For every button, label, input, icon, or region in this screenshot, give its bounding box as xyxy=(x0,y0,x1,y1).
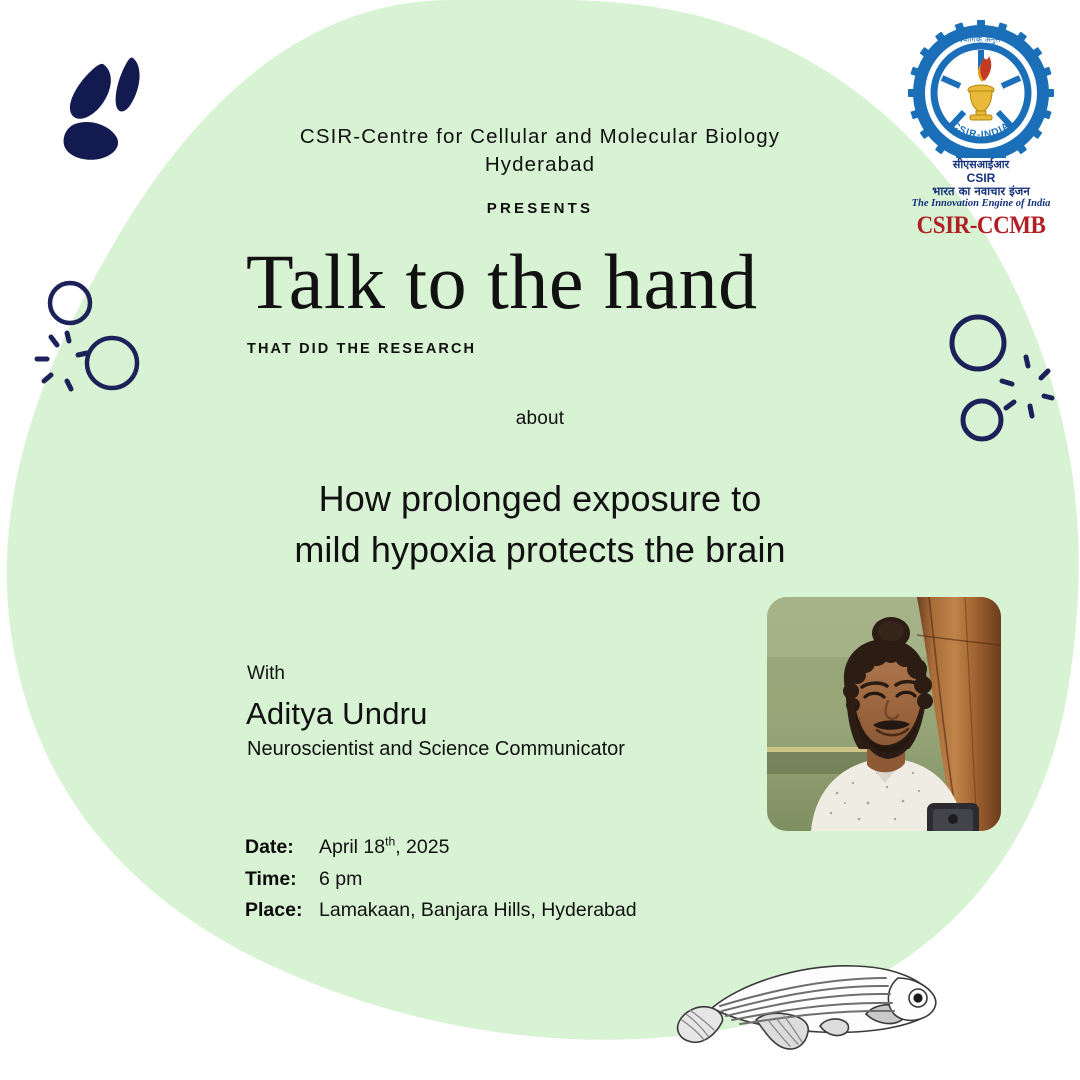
detail-key-place: Place: xyxy=(245,895,319,927)
detail-value-place: Lamakaan, Banjara Hills, Hyderabad xyxy=(319,895,637,927)
talk-topic-line-2: mild hypoxia protects the brain xyxy=(294,529,785,570)
speaker-name: Aditya Undru xyxy=(246,696,428,732)
logo-tagline-hindi-2: भारत का नवाचार इंजन xyxy=(900,185,1062,198)
logo-wordmark: CSIR-CCMB xyxy=(906,213,1055,238)
organisation-line-2: Hyderabad xyxy=(485,153,595,176)
poster-canvas: आदयोगिक अनुसंधान CSIR-INDIA सीएसआईआर CSI… xyxy=(0,0,1080,1080)
page-subtitle: THAT DID THE RESEARCH xyxy=(247,341,476,357)
detail-row-place: Place:Lamakaan, Banjara Hills, Hyderabad xyxy=(245,895,637,927)
logo-tagline-english: The Innovation Engine of India xyxy=(900,198,1062,211)
detail-value-time: 6 pm xyxy=(319,864,362,896)
detail-key-date: Date: xyxy=(245,832,319,864)
detail-row-date: Date:April 18th, 2025 xyxy=(245,832,637,864)
event-details: Date:April 18th, 2025 Time:6 pm Place:La… xyxy=(245,832,637,927)
logo-tagline-hindi-1: सीएसआईआर xyxy=(900,159,1062,172)
detail-key-time: Time: xyxy=(245,864,319,896)
date-ordinal-suffix: th xyxy=(385,835,395,849)
csir-ccmb-logo: आदयोगिक अनुसंधान CSIR-INDIA सीएसआईआर CSI… xyxy=(900,18,1062,223)
page-title: Talk to the hand xyxy=(246,243,758,321)
organisation-line-1: CSIR-Centre for Cellular and Molecular B… xyxy=(300,125,780,148)
talk-topic: How prolonged exposure to mild hypoxia p… xyxy=(0,473,1080,575)
speaker-portrait-image xyxy=(767,597,1001,831)
logo-tagline-abbr: CSIR xyxy=(900,172,1062,185)
csir-emblem-icon: आदयोगिक अनुसंधान CSIR-INDIA xyxy=(906,18,1056,158)
talk-topic-line-1: How prolonged exposure to xyxy=(319,478,762,519)
with-label: With xyxy=(247,663,285,685)
detail-row-time: Time:6 pm xyxy=(245,864,637,896)
about-label: about xyxy=(0,408,1080,430)
speaker-role: Neuroscientist and Science Communicator xyxy=(247,738,625,761)
speaker-photo xyxy=(767,597,1001,831)
svg-text:आदयोगिक अनुसंधान: आदयोगिक अनुसंधान xyxy=(950,34,1012,45)
detail-value-date: April 18th, 2025 xyxy=(319,832,449,864)
